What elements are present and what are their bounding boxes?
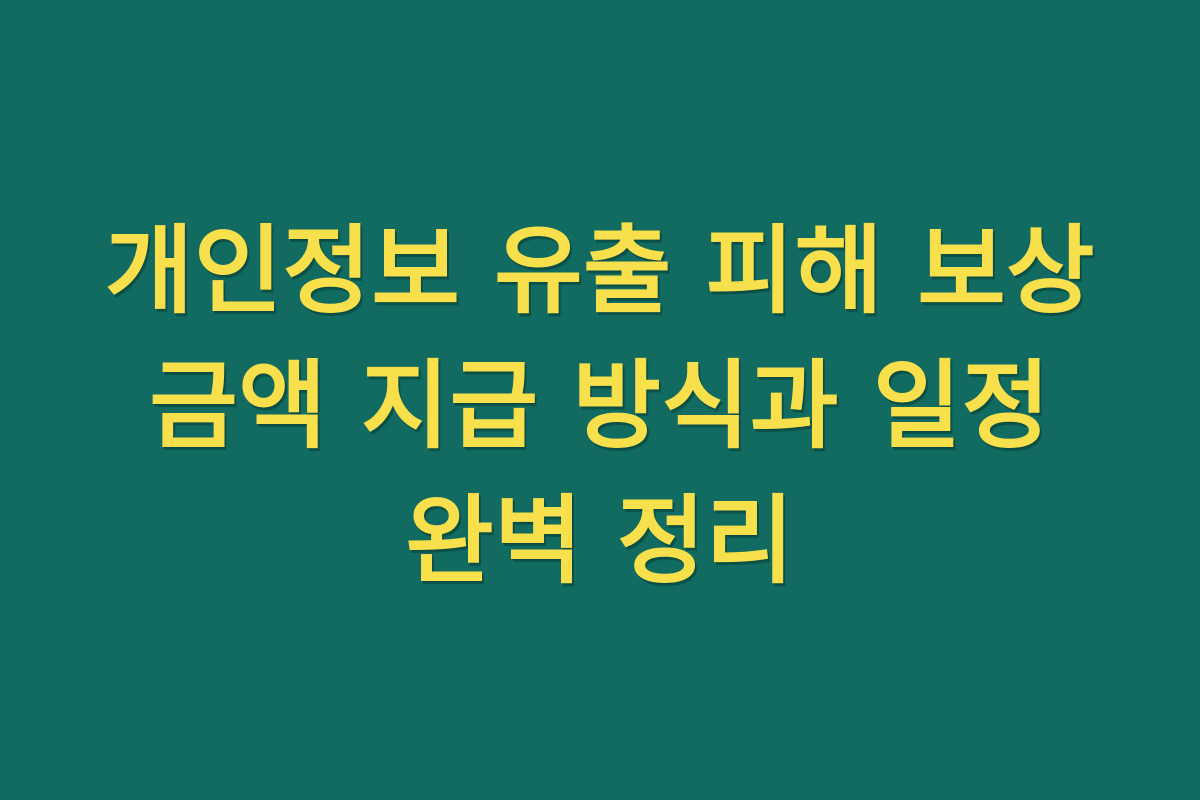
title-line-3: 완벽 정리 <box>405 474 794 609</box>
thumbnail-card: 개인정보 유출 피해 보상 금액 지급 방식과 일정 완벽 정리 <box>0 0 1200 800</box>
title-line-2: 금액 지급 방식과 일정 <box>149 339 1050 474</box>
title-line-1: 개인정보 유출 피해 보상 <box>105 204 1095 339</box>
page-title: 개인정보 유출 피해 보상 금액 지급 방식과 일정 완벽 정리 <box>50 204 1150 609</box>
